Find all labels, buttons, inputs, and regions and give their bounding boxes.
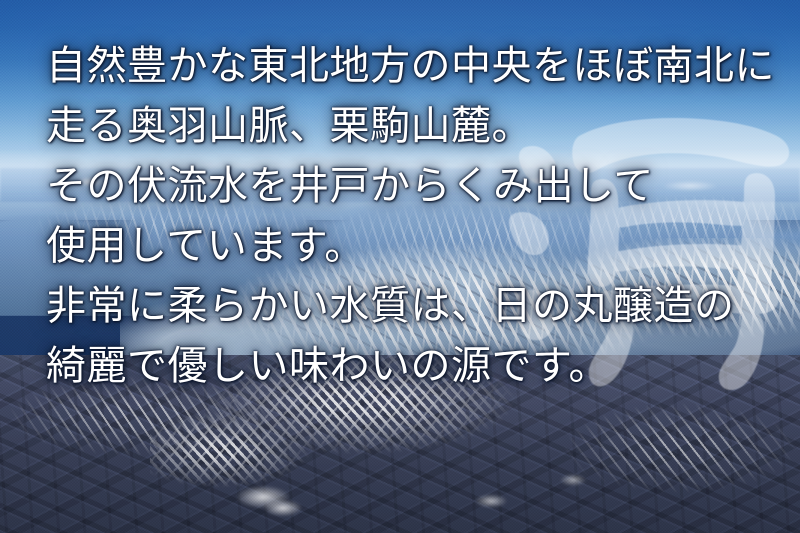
cloud-patch xyxy=(556,472,590,488)
hero-copy: 自然豊かな東北地方の中央をほぼ南北に 走る奥羽山脈、栗駒山麓。 その伏流水を井戸… xyxy=(46,36,786,396)
copy-line-1: 自然豊かな東北地方の中央をほぼ南北に xyxy=(46,36,786,96)
cloud-patch xyxy=(258,497,308,519)
copy-line-3: その伏流水を井戸からくみ出して xyxy=(46,156,786,216)
copy-line-5: 非常に柔らかい水質は、日の丸醸造の xyxy=(46,276,786,336)
cloud-patch xyxy=(470,492,512,510)
hero-banner: 自然豊かな東北地方の中央をほぼ南北に 走る奥羽山脈、栗駒山麓。 その伏流水を井戸… xyxy=(0,0,800,533)
right-snow-ridge xyxy=(560,400,800,533)
copy-line-2: 走る奥羽山脈、栗駒山麓。 xyxy=(46,96,786,156)
copy-line-6: 綺麗で優しい味わいの源です。 xyxy=(46,336,786,396)
copy-line-4: 使用しています。 xyxy=(46,216,786,276)
